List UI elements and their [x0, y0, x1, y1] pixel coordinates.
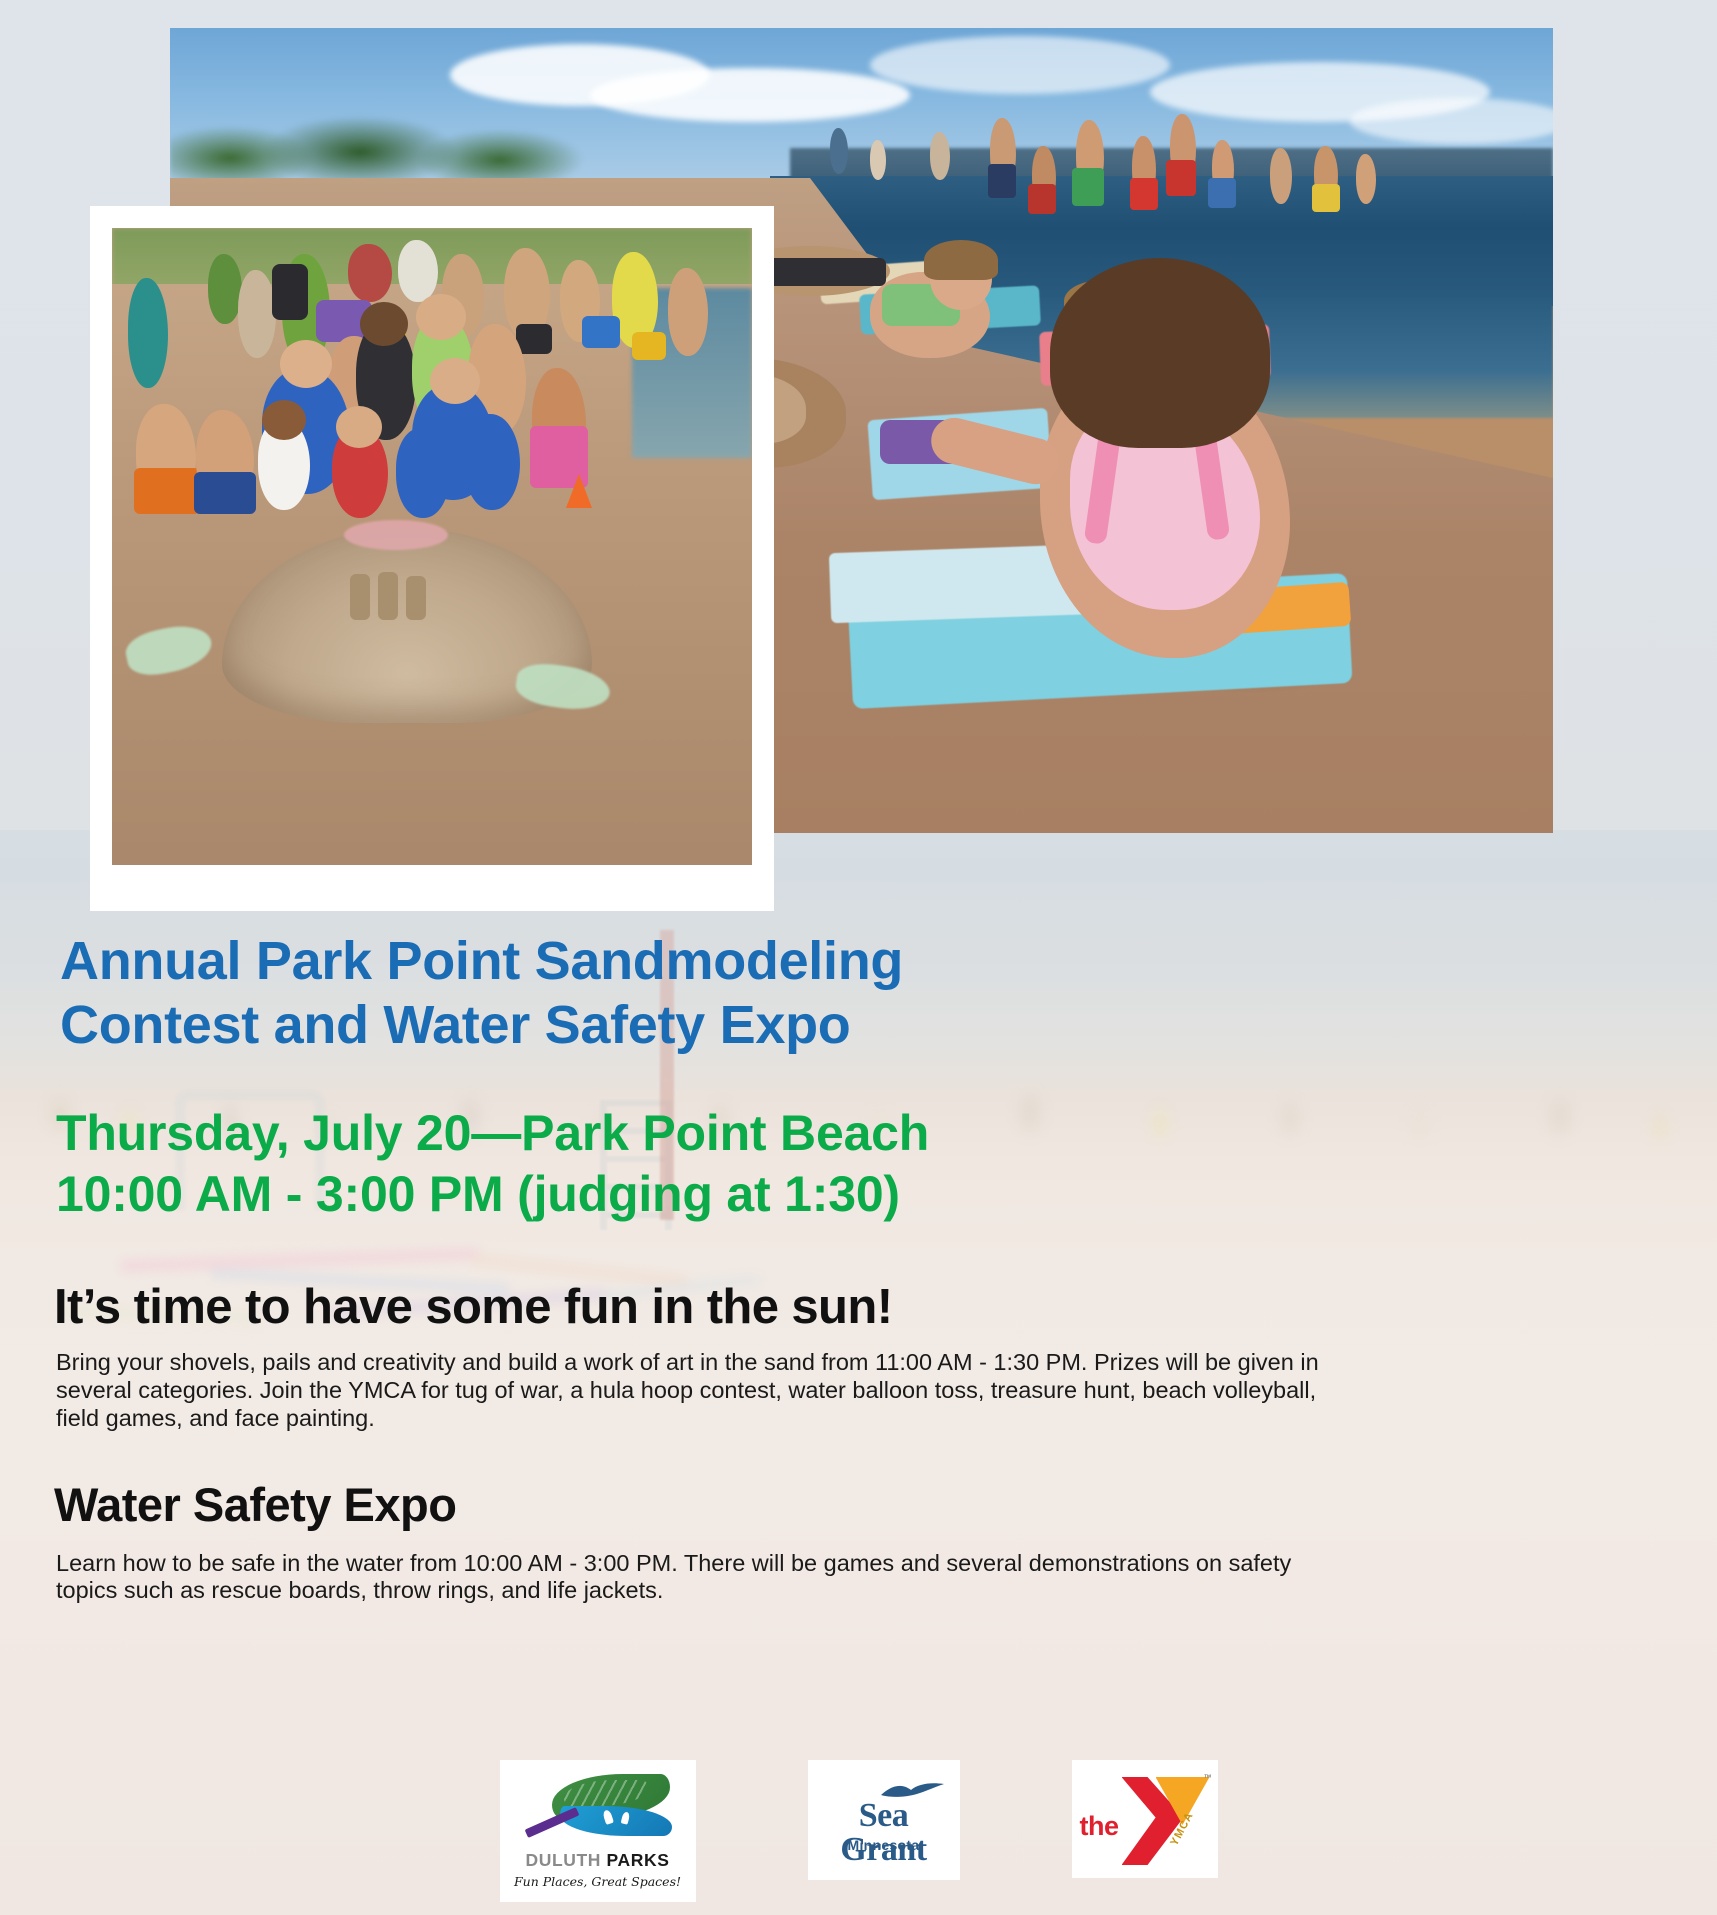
title-line-1: Annual Park Point Sandmodeling: [60, 931, 903, 991]
beachgoer: [1270, 148, 1292, 204]
duluth-parks-icon: [518, 1774, 678, 1846]
head: [360, 302, 408, 346]
sculpture-pink-crest: [344, 520, 448, 550]
person: [668, 268, 708, 356]
ymca-mark: the YMCA ™: [1078, 1771, 1212, 1867]
swim-trunks: [1208, 178, 1236, 208]
sculpture-detail: [350, 574, 370, 620]
traffic-cone: [566, 474, 592, 508]
tagline-heading: It’s time to have some fun in the sun!: [54, 1279, 1717, 1335]
swim-trunks: [134, 468, 200, 514]
water-safety-heading: Water Safety Expo: [54, 1477, 1717, 1532]
dateline-line-2: 10:00 AM - 3:00 PM (judging at 1:30): [56, 1166, 900, 1222]
head: [416, 294, 466, 340]
cloud-shape: [870, 36, 1170, 94]
sandmodeling-description: Bring your shovels, pails and creativity…: [56, 1349, 1346, 1432]
hair: [924, 240, 998, 280]
blue-bucket: [582, 316, 620, 348]
trademark-symbol: ™: [1204, 1773, 1212, 1782]
head: [336, 406, 382, 448]
sea-grant-logo: Sea Grant Minnesota: [808, 1760, 960, 1880]
the-word: the: [1080, 1811, 1119, 1842]
sculpture-detail: [406, 576, 426, 620]
person: [238, 270, 276, 358]
head: [262, 400, 306, 440]
poster-text-content: Annual Park Point Sandmodeling Contest a…: [0, 930, 1717, 1605]
dateline-line-1: Thursday, July 20—Park Point Beach: [56, 1105, 929, 1161]
head: [280, 340, 332, 388]
sea-grant-wordmark: Sea Grant: [814, 1799, 954, 1867]
yellow-bucket: [632, 332, 666, 360]
swim-trunks: [1072, 168, 1104, 206]
child-blue-top: [464, 414, 520, 510]
beachgoer: [870, 140, 886, 180]
cloud-shape: [1350, 98, 1553, 144]
long-dark-hair: [1050, 258, 1270, 448]
person: [128, 278, 168, 388]
sponsor-logos: DULUTH PARKS Fun Places, Great Spaces! S…: [0, 1760, 1717, 1902]
inset-photo-image: [112, 228, 752, 865]
event-dateline: Thursday, July 20—Park Point Beach 10:00…: [56, 1103, 1717, 1225]
beachgoer: [1356, 154, 1376, 204]
water-safety-description: Learn how to be safe in the water from 1…: [56, 1550, 1346, 1605]
sculpture-detail: [378, 572, 398, 620]
sea-grant-state: Minnesota: [814, 1837, 954, 1853]
black-bucket: [516, 324, 552, 354]
beachgoer: [830, 128, 848, 174]
inset-sandcastle-photo: [90, 206, 774, 911]
swim-trunks: [1130, 178, 1158, 210]
sea-grant-mark: Sea Grant Minnesota: [814, 1777, 954, 1863]
head: [430, 358, 480, 404]
swim-trunks: [988, 164, 1016, 198]
title-line-2: Contest and Water Safety Expo: [60, 995, 850, 1055]
swim-trunks: [194, 472, 256, 514]
page-title: Annual Park Point Sandmodeling Contest a…: [60, 930, 1360, 1057]
person: [208, 254, 242, 324]
duluth-parks-logo: DULUTH PARKS Fun Places, Great Spaces!: [500, 1760, 696, 1902]
backpack: [272, 264, 308, 320]
beachgoer: [930, 132, 950, 180]
parks-word: PARKS: [607, 1850, 670, 1870]
person: [398, 240, 438, 302]
duluth-word: DULUTH: [526, 1850, 602, 1870]
duluth-parks-tagline: Fun Places, Great Spaces!: [514, 1874, 681, 1889]
beach-bag: [766, 258, 886, 286]
ymca-logo: the YMCA ™: [1072, 1760, 1218, 1878]
swim-trunks: [1028, 184, 1056, 214]
child-blue-top: [396, 428, 450, 518]
swim-trunks: [1166, 160, 1196, 196]
cloud-shape: [590, 68, 910, 122]
person: [348, 244, 392, 302]
poster-canvas: Annual Park Point Sandmodeling Contest a…: [0, 0, 1717, 1915]
swim-trunks: [1312, 184, 1340, 212]
duluth-parks-wordmark: DULUTH PARKS: [526, 1850, 670, 1871]
